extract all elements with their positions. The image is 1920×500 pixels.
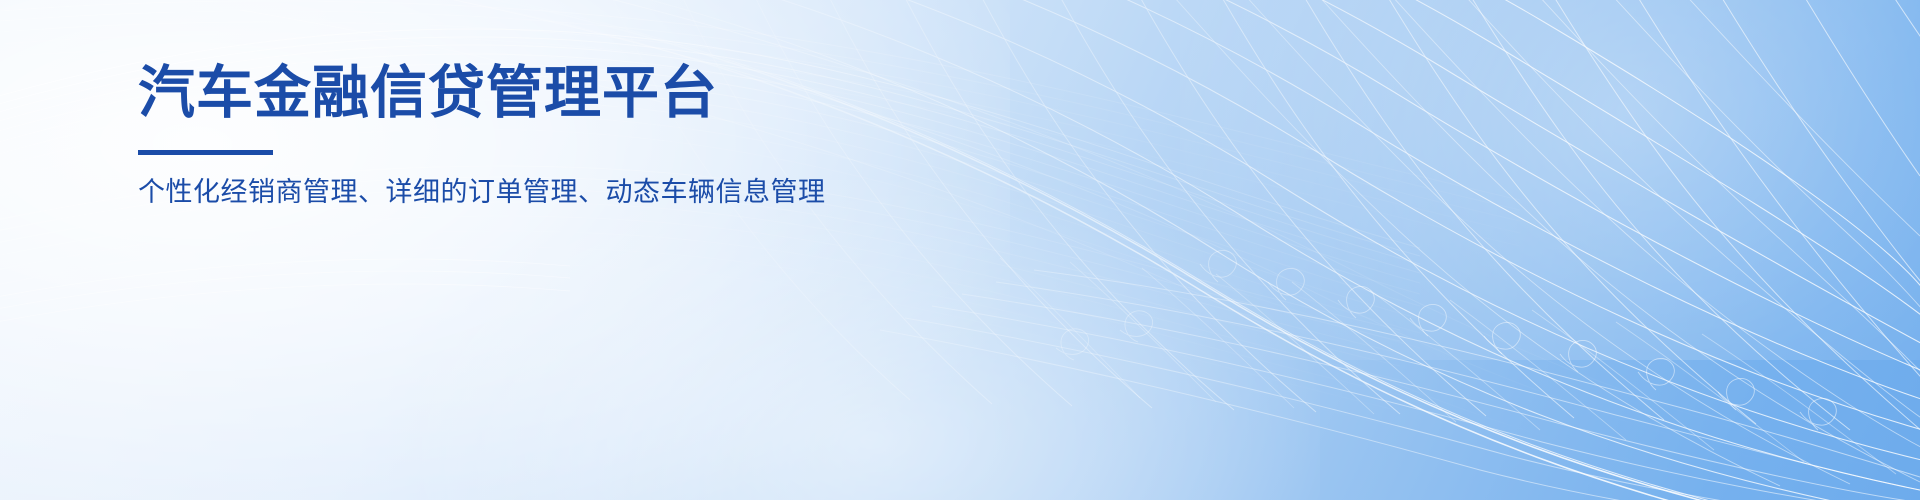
page-subtitle: 个性化经销商管理、详细的订单管理、动态车辆信息管理: [138, 175, 1238, 210]
hero-banner: 汽车金融信贷管理平台 个性化经销商管理、详细的订单管理、动态车辆信息管理: [0, 0, 1920, 500]
light-bloom-upper-right: [1180, 0, 1920, 360]
title-divider: [138, 150, 273, 155]
light-bloom-center: [420, 180, 1320, 500]
banner-content: 汽车金融信贷管理平台 个性化经销商管理、详细的订单管理、动态车辆信息管理: [138, 62, 1238, 210]
page-title: 汽车金融信贷管理平台: [138, 62, 1238, 126]
